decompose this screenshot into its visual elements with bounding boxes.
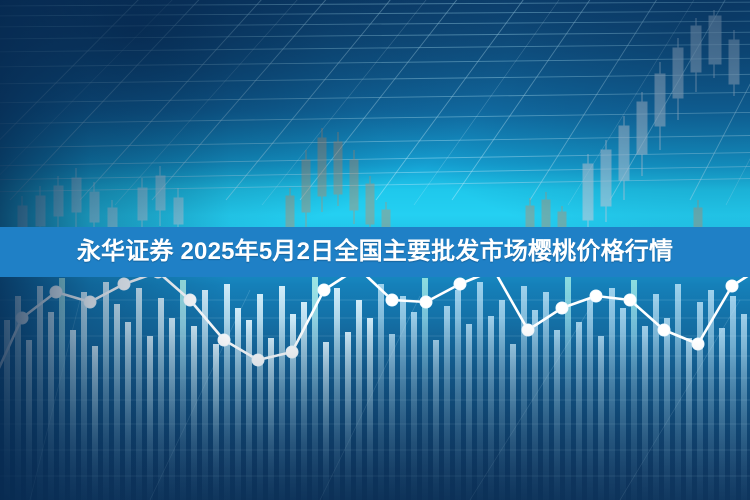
page-title: 永华证券 2025年5月2日全国主要批发市场樱桃价格行情 xyxy=(77,240,673,264)
title-banner: 永华证券 2025年5月2日全国主要批发市场樱桃价格行情 xyxy=(0,227,750,277)
poster-canvas: 永华证券 2025年5月2日全国主要批发市场樱桃价格行情 xyxy=(0,0,750,500)
